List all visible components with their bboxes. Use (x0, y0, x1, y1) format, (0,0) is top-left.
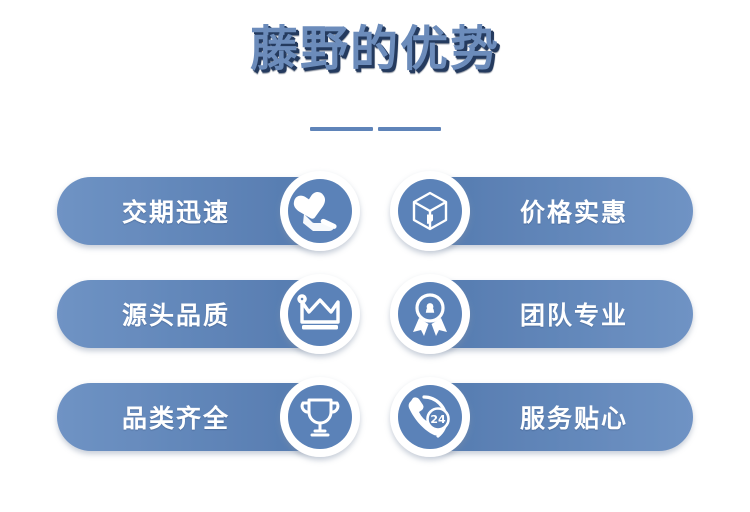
feature-row: 品类齐全 (0, 378, 750, 456)
feature-badge-shape (52, 378, 364, 456)
feature-item-quality[interactable]: 源头品质 (52, 275, 364, 353)
title-divider (0, 127, 750, 131)
divider-segment-right (378, 127, 441, 131)
feature-badge-shape (386, 275, 698, 353)
page-title: 藤野的优势 (250, 22, 500, 77)
feature-item-price[interactable]: 价格实惠 (386, 172, 698, 250)
feature-badge-shape (52, 172, 364, 250)
feature-badge-shape (386, 172, 698, 250)
feature-row: 交期迅速 (0, 172, 750, 250)
page-title-block: 藤野的优势 (0, 22, 750, 77)
feature-item-catalog[interactable]: 品类齐全 (52, 378, 364, 456)
feature-grid: 交期迅速 (0, 172, 750, 481)
feature-item-delivery[interactable]: 交期迅速 (52, 172, 364, 250)
feature-icon-circle (288, 385, 352, 449)
feature-item-team[interactable]: 团队专业 (386, 275, 698, 353)
feature-badge-shape (52, 275, 364, 353)
phone-badge-text: 24 (430, 413, 446, 426)
feature-icon-circle (288, 179, 352, 243)
advantages-page: 藤野的优势 (0, 0, 750, 512)
feature-item-service[interactable]: 24 服务贴心 (386, 378, 698, 456)
feature-icon-circle (288, 282, 352, 346)
feature-badge-shape: 24 (386, 378, 698, 456)
feature-row: 源头品质 (0, 275, 750, 353)
feature-icon-circle (398, 282, 462, 346)
divider-segment-left (310, 127, 373, 131)
